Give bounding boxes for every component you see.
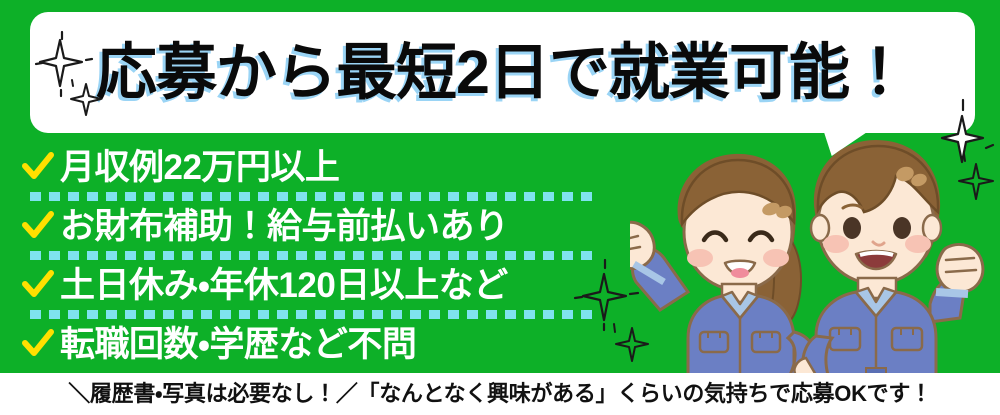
bottom-message-text: ＼履歴書・写真は必要なし！／「なんとなく興味がある」くらいの気持ちで応募OKです… <box>68 383 932 405</box>
worker-characters-illustration <box>630 132 1000 375</box>
male-worker <box>794 140 982 375</box>
female-worker <box>630 154 828 375</box>
job-ad-banner: 応募から最短2日で就業可能！ <box>0 0 1000 415</box>
list-item-label: お財布補助！給与前払いあり <box>60 209 509 244</box>
list-item: お財布補助！給与前払いあり <box>22 203 612 249</box>
benefits-list: 月収例22万円以上 お財布補助！給与前払いあり 土日休み・年休120日以上など <box>22 144 612 367</box>
list-item-label: 月収例22万円以上 <box>60 150 339 185</box>
list-item: 月収例22万円以上 <box>22 144 612 190</box>
list-separator <box>30 309 600 320</box>
bottom-message-bar: ＼履歴書・写真は必要なし！／「なんとなく興味がある」くらいの気持ちで応募OKです… <box>0 373 1000 415</box>
check-icon <box>22 211 60 241</box>
check-icon <box>22 152 60 182</box>
list-item: 転職回数・学歴など不問 <box>22 321 612 367</box>
check-icon <box>22 270 60 300</box>
list-separator <box>30 191 600 202</box>
check-icon <box>22 329 60 359</box>
headline-text: 応募から最短2日で就業可能！ <box>30 12 975 133</box>
list-item-label: 転職回数・学歴など不問 <box>60 327 416 362</box>
list-item: 土日休み・年休120日以上など <box>22 262 612 308</box>
list-item-label: 土日休み・年休120日以上など <box>60 268 508 303</box>
list-separator <box>30 250 600 261</box>
